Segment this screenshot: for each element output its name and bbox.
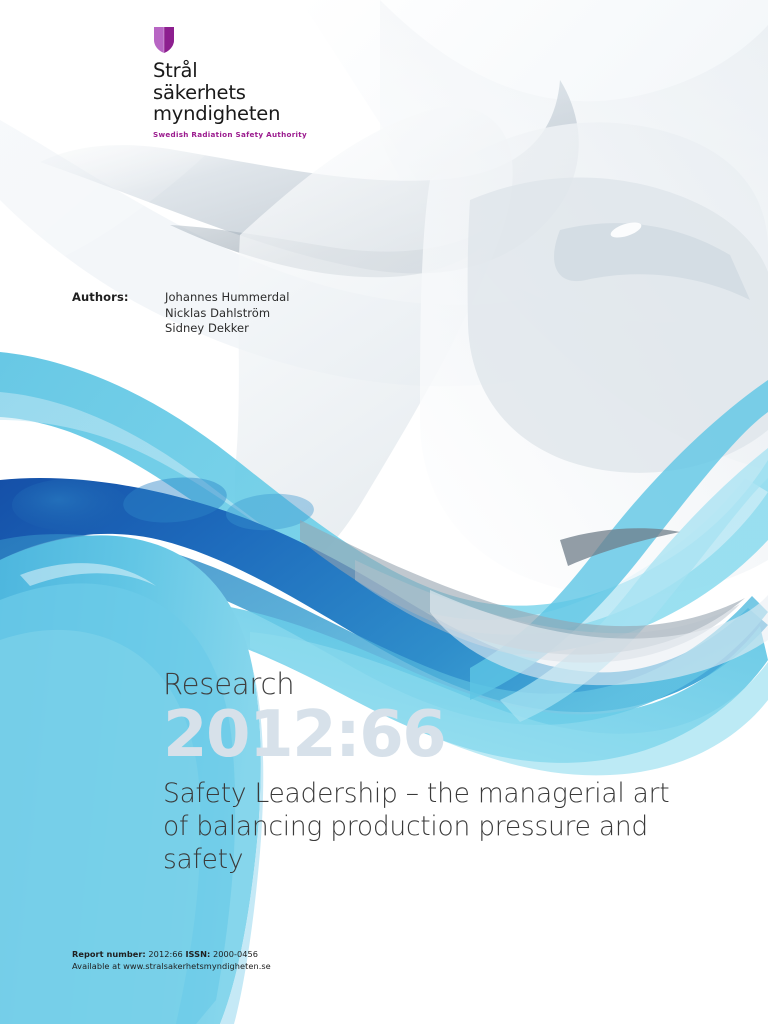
authors-label: Authors: [72, 290, 165, 304]
author-name: Nicklas Dahlström [165, 306, 289, 322]
author-name: Sidney Dekker [165, 321, 289, 337]
logo-wordmark: Strål säkerhets myndigheten [153, 60, 353, 125]
authors-list: Johannes Hummerdal Nicklas Dahlström Sid… [165, 290, 289, 337]
report-number-display: 2012:66 [163, 703, 723, 767]
logo-subtitle: Swedish Radiation Safety Authority [153, 130, 353, 139]
footer-block: Report number: 2012:66 ISSN: 2000-0456 A… [72, 948, 271, 972]
issn-value: 2000-0456 [213, 949, 258, 959]
series-kicker: Research [163, 668, 723, 701]
shield-icon [153, 26, 175, 54]
report-number-value-text: 2012:66 [148, 949, 182, 959]
footer-availability: Available at www.stralsakerhetsmyndighet… [72, 960, 271, 972]
organisation-logo: Strål säkerhets myndigheten Swedish Radi… [153, 26, 353, 139]
footer-report-line: Report number: 2012:66 ISSN: 2000-0456 [72, 948, 271, 960]
authors-block: Authors: Johannes Hummerdal Nicklas Dahl… [72, 290, 289, 337]
page-title: Safety Leadership – the managerial art o… [163, 777, 693, 876]
report-number-label: Report number: [72, 949, 146, 959]
issn-label: ISSN: [185, 949, 210, 959]
author-name: Johannes Hummerdal [165, 290, 289, 306]
title-block: Research 2012:66 Safety Leadership – the… [163, 668, 723, 876]
report-cover-page: Strål säkerhets myndigheten Swedish Radi… [0, 0, 768, 1024]
